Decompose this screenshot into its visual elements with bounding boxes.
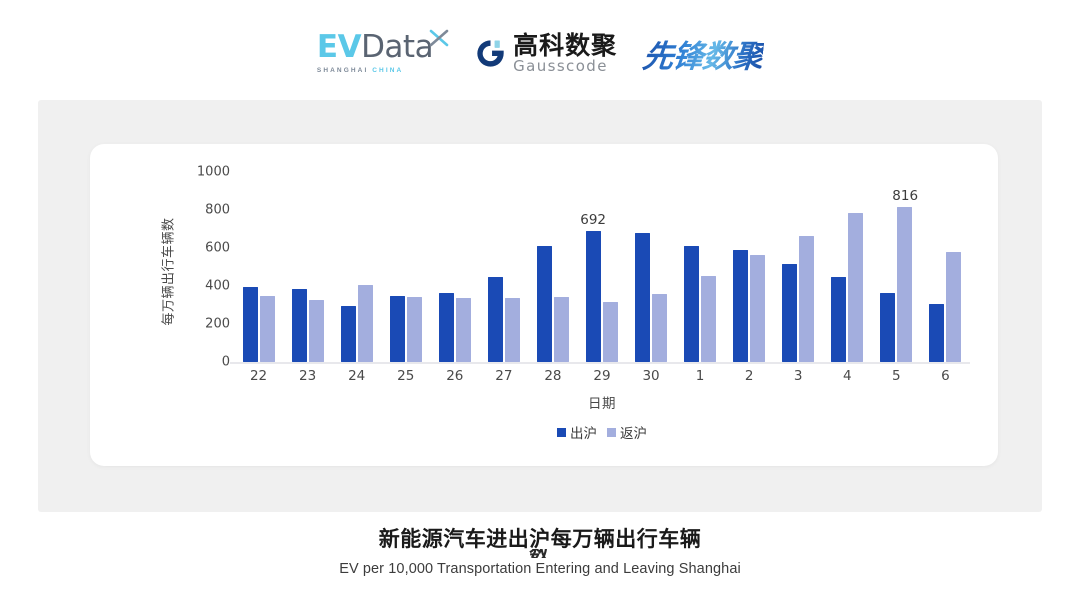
x-tick-label: 1 xyxy=(676,368,725,384)
bar-group xyxy=(430,172,479,362)
x-tick-label: 3 xyxy=(774,368,823,384)
gausscode-g-mark-icon xyxy=(475,38,506,69)
bar-group xyxy=(774,172,823,362)
evdata-x-cross-icon xyxy=(429,28,449,48)
x-tick-label: 24 xyxy=(332,368,381,384)
x-tick-label: 27 xyxy=(479,368,528,384)
bar-group: 816 xyxy=(872,172,921,362)
legend-item[interactable]: 出沪 xyxy=(557,422,597,442)
caption-subtitle-en: EV per 10,000 Transportation Entering an… xyxy=(0,561,1080,577)
legend-label: 出沪 xyxy=(570,422,597,442)
bar-group xyxy=(283,172,332,362)
bar-group xyxy=(234,172,283,362)
caption-title-cn-text: 新能源汽车进出沪每万辆出行车辆 xyxy=(379,527,702,551)
x-axis-tick-labels: 222324252627282930123456 xyxy=(234,368,970,384)
logo-bar: EVData SHANGHAI CHINA 高科数聚 Gausscode 先锋数… xyxy=(0,22,1080,84)
x-tick-label: 28 xyxy=(528,368,577,384)
x-tick-label: 25 xyxy=(381,368,430,384)
caption-clipped-artifact: 数 xyxy=(529,549,550,558)
caption-title-cn: 新能源汽车进出沪每万辆出行车辆 数 xyxy=(0,528,1080,551)
bar-group xyxy=(381,172,430,362)
gausscode-text: 高科数聚 Gausscode xyxy=(513,33,617,74)
x-tick-label: 26 xyxy=(430,368,479,384)
x-tick-label: 23 xyxy=(283,368,332,384)
bar-fanhu[interactable] xyxy=(309,300,324,362)
bar-fanhu[interactable] xyxy=(897,207,912,362)
bar-chuhu[interactable] xyxy=(292,289,307,362)
bar-chuhu[interactable] xyxy=(831,277,846,362)
legend-swatch-icon xyxy=(557,428,566,437)
bar-fanhu[interactable] xyxy=(848,213,863,362)
bar-chuhu[interactable] xyxy=(782,264,797,362)
gausscode-en-name: Gausscode xyxy=(513,59,617,74)
x-tick-label: 6 xyxy=(921,368,970,384)
figure-caption: 新能源汽车进出沪每万辆出行车辆 数 EV per 10,000 Transpor… xyxy=(0,528,1080,577)
bar-chuhu[interactable] xyxy=(341,306,356,362)
evdata-wordmark: EVData xyxy=(317,32,433,63)
evdata-tagline-country: CHINA xyxy=(372,67,403,74)
y-tick-label: 0 xyxy=(222,355,230,370)
bar-group xyxy=(627,172,676,362)
y-tick-label: 600 xyxy=(205,241,230,256)
bar-fanhu[interactable] xyxy=(505,298,520,362)
bar-group xyxy=(921,172,970,362)
evdata-ev-text: EV xyxy=(317,32,361,63)
evdata-logo: EVData SHANGHAI CHINA xyxy=(317,32,449,74)
evdata-data-text: Data xyxy=(361,32,433,63)
bar-chuhu[interactable] xyxy=(439,293,454,362)
bar-chuhu[interactable] xyxy=(488,277,503,363)
x-tick-label: 22 xyxy=(234,368,283,384)
y-axis-ticks: 10008006004002000 xyxy=(194,172,230,362)
legend-item[interactable]: 返沪 xyxy=(607,422,647,442)
bar-chuhu[interactable] xyxy=(243,287,258,362)
bar-value-label: 816 xyxy=(892,188,918,204)
y-tick-label: 1000 xyxy=(197,165,230,180)
bar-chuhu[interactable] xyxy=(880,293,895,362)
x-axis-title: 日期 xyxy=(234,392,970,412)
legend-swatch-icon xyxy=(607,428,616,437)
bar-group xyxy=(479,172,528,362)
bar-chuhu[interactable] xyxy=(390,296,405,362)
bar-fanhu[interactable] xyxy=(701,276,716,362)
x-tick-label: 30 xyxy=(627,368,676,384)
bar-value-label: 692 xyxy=(580,212,606,228)
bar-group xyxy=(332,172,381,362)
x-tick-label: 2 xyxy=(725,368,774,384)
bar-fanhu[interactable] xyxy=(946,252,961,362)
bar-fanhu[interactable] xyxy=(799,236,814,362)
bar-fanhu[interactable] xyxy=(456,298,471,362)
y-tick-label: 200 xyxy=(205,317,230,332)
evdata-tagline: SHANGHAI CHINA xyxy=(317,67,403,74)
bar-fanhu[interactable] xyxy=(554,297,569,362)
bar-group: 692 xyxy=(577,172,626,362)
bar-chuhu[interactable] xyxy=(684,246,699,362)
bar-group xyxy=(528,172,577,362)
plot-area: 692816 xyxy=(234,172,970,362)
x-tick-label: 4 xyxy=(823,368,872,384)
bar-chuhu[interactable] xyxy=(733,250,748,362)
bar-group xyxy=(823,172,872,362)
bar-chart: 每万辆出行车辆数 10008006004002000 692816 222324… xyxy=(90,144,998,466)
bar-fanhu[interactable] xyxy=(260,296,275,362)
gausscode-cn-name: 高科数聚 xyxy=(513,33,617,59)
bar-chuhu[interactable] xyxy=(635,233,650,362)
xianfeng-logo: 先锋数聚 xyxy=(641,31,766,76)
bar-fanhu[interactable] xyxy=(358,285,373,362)
x-axis-baseline xyxy=(230,362,970,364)
bar-chuhu[interactable] xyxy=(586,231,601,362)
y-axis-title: 每万辆出行车辆数 xyxy=(158,177,177,367)
chart-card: 每万辆出行车辆数 10008006004002000 692816 222324… xyxy=(90,144,998,466)
gausscode-logo: 高科数聚 Gausscode xyxy=(475,33,617,74)
bar-fanhu[interactable] xyxy=(603,302,618,362)
x-tick-label: 5 xyxy=(872,368,921,384)
evdata-tagline-city: SHANGHAI xyxy=(317,67,368,74)
bar-group xyxy=(725,172,774,362)
bar-fanhu[interactable] xyxy=(652,294,667,362)
bar-group xyxy=(676,172,725,362)
x-tick-label: 29 xyxy=(577,368,626,384)
y-tick-label: 800 xyxy=(205,203,230,218)
y-tick-label: 400 xyxy=(205,279,230,294)
bar-fanhu[interactable] xyxy=(407,297,422,362)
chart-legend: 出沪返沪 xyxy=(234,422,970,442)
bar-chuhu[interactable] xyxy=(929,304,944,362)
legend-label: 返沪 xyxy=(620,422,647,442)
bar-fanhu[interactable] xyxy=(750,255,765,362)
bar-chuhu[interactable] xyxy=(537,246,552,362)
